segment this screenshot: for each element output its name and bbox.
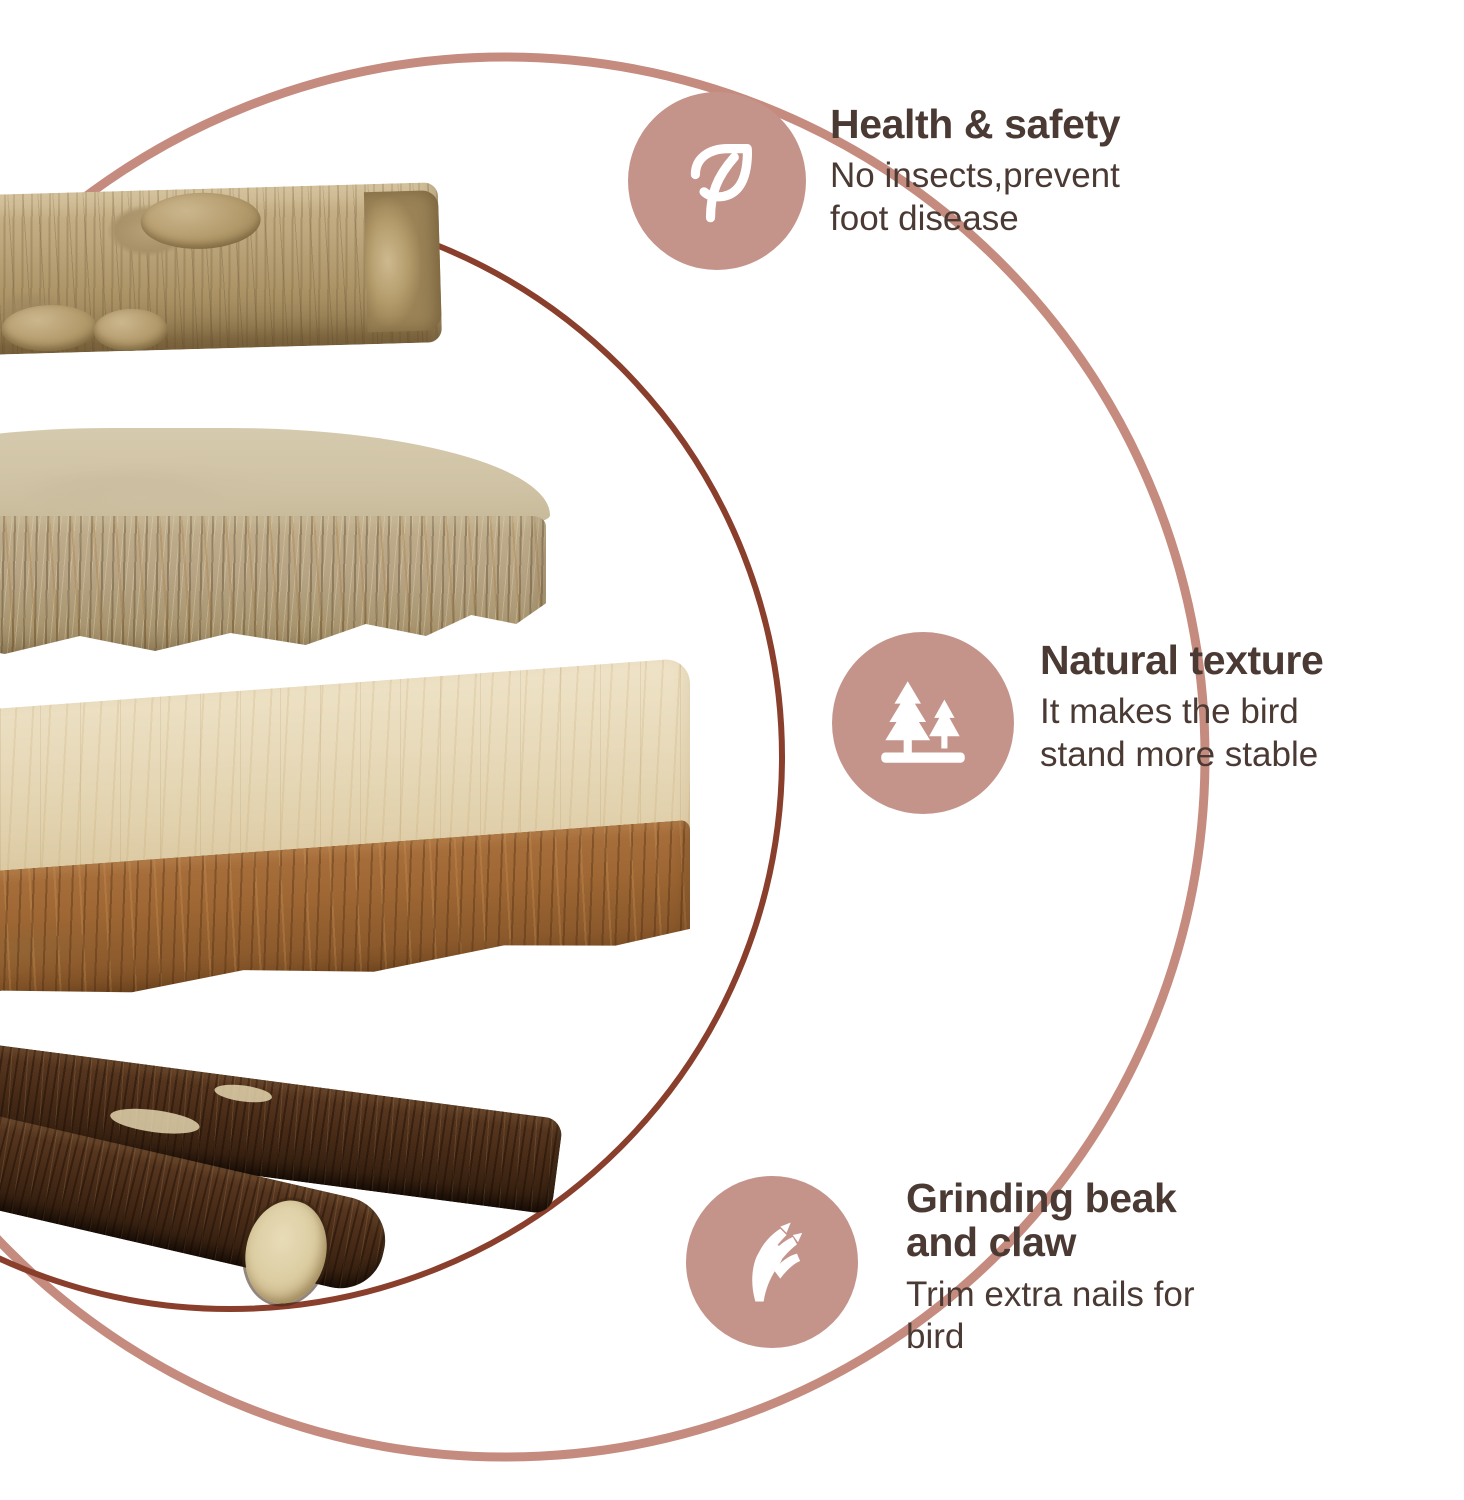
feature-title: Grinding beak and claw: [906, 1176, 1194, 1265]
stick-bark-scar: [213, 1082, 273, 1105]
feature-title: Natural texture: [1040, 638, 1323, 682]
bird-claw-icon: [720, 1210, 824, 1314]
wood-slice-bark: [0, 516, 546, 666]
feature-title: Health & safety: [830, 102, 1120, 146]
pine-trees-icon-bubble: [832, 632, 1014, 814]
feature-text-block: Natural texture It makes the bird stand …: [1040, 632, 1323, 777]
feature-description: No insects,prevent foot disease: [830, 155, 1120, 240]
feature-health-and-safety: Health & safety No insects,prevent foot …: [628, 92, 1120, 270]
product-live-edge-plank: [0, 726, 690, 1046]
product-natural-perch-branch: [0, 182, 442, 358]
bird-claw-icon-bubble: [686, 1176, 858, 1348]
branch-knot: [93, 308, 168, 352]
feature-text-block: Health & safety No insects,prevent foot …: [830, 92, 1120, 241]
feature-natural-texture: Natural texture It makes the bird stand …: [832, 632, 1323, 814]
leaf-icon-bubble: [628, 92, 806, 270]
feature-description: Trim extra nails for bird: [906, 1274, 1194, 1359]
leaf-icon: [663, 127, 771, 235]
branch-knot: [140, 191, 262, 250]
branch-knot: [1, 304, 98, 353]
infographic-canvas: Health & safety No insects,prevent foot …: [0, 0, 1464, 1500]
feature-text-block: Grinding beak and claw Trim extra nails …: [906, 1176, 1194, 1359]
feature-description: It makes the bird stand more stable: [1040, 691, 1323, 776]
pine-trees-icon: [867, 667, 979, 779]
feature-grinding-beak-and-claw: Grinding beak and claw Trim extra nails …: [686, 1176, 1194, 1359]
product-wood-slice: [0, 428, 550, 674]
stick-bark-scar: [109, 1104, 201, 1138]
